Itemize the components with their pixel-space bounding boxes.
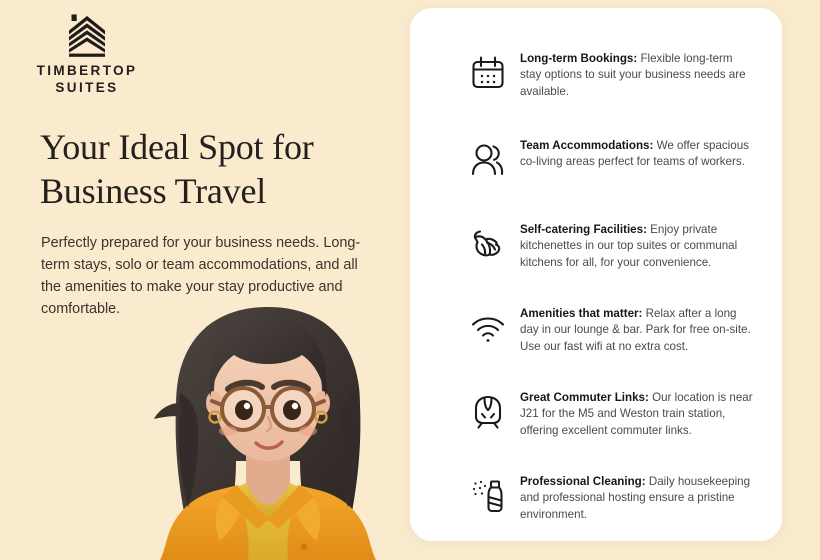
features-card: Long-term Bookings: Flexible long-term s… <box>410 8 782 541</box>
spray-bottle-icon <box>466 474 510 518</box>
two-people-icon <box>466 138 510 182</box>
croissant-icon <box>466 222 510 266</box>
brand-name: TIMBERTOP SUITES <box>28 63 146 97</box>
feature-text: Professional Cleaning: Daily housekeepin… <box>510 473 756 523</box>
feature-term: Great Commuter Links: <box>520 391 649 404</box>
feature-text: Team Accommodations: We offer spacious c… <box>510 137 756 171</box>
list-item: Great Commuter Links: Our location is ne… <box>466 389 756 466</box>
house-roof-chevron-logo-icon <box>64 14 110 58</box>
page-title: Your Ideal Spot for Business Travel <box>40 126 385 214</box>
feature-term: Amenities that matter: <box>520 307 642 320</box>
brand-lockup: TIMBERTOP SUITES <box>28 14 146 97</box>
features-list: Long-term Bookings: Flexible long-term s… <box>466 42 756 550</box>
feature-text: Amenities that matter: Relax after a lon… <box>510 305 756 355</box>
calendar-icon <box>466 51 510 95</box>
train-icon <box>466 390 510 434</box>
left-content-column: TIMBERTOP SUITES Your Ideal Spot for Bus… <box>0 0 410 560</box>
feature-text: Self-catering Facilities: Enjoy private … <box>510 221 756 271</box>
feature-text: Great Commuter Links: Our location is ne… <box>510 389 756 439</box>
hero-description: Perfectly prepared for your business nee… <box>41 233 381 321</box>
list-item: Amenities that matter: Relax after a lon… <box>466 305 756 382</box>
wifi-icon <box>466 306 510 350</box>
character-illustration <box>118 285 418 560</box>
feature-term: Long-term Bookings: <box>520 52 637 65</box>
list-item: Professional Cleaning: Daily housekeepin… <box>466 473 756 550</box>
feature-term: Team Accommodations: <box>520 139 653 152</box>
list-item: Team Accommodations: We offer spacious c… <box>466 137 756 214</box>
feature-term: Self-catering Facilities: <box>520 223 647 236</box>
poster-canvas: TIMBERTOP SUITES Your Ideal Spot for Bus… <box>0 0 820 560</box>
feature-term: Professional Cleaning: <box>520 475 646 488</box>
list-item: Long-term Bookings: Flexible long-term s… <box>466 50 756 127</box>
list-item: Self-catering Facilities: Enjoy private … <box>466 221 756 298</box>
feature-text: Long-term Bookings: Flexible long-term s… <box>510 50 756 100</box>
